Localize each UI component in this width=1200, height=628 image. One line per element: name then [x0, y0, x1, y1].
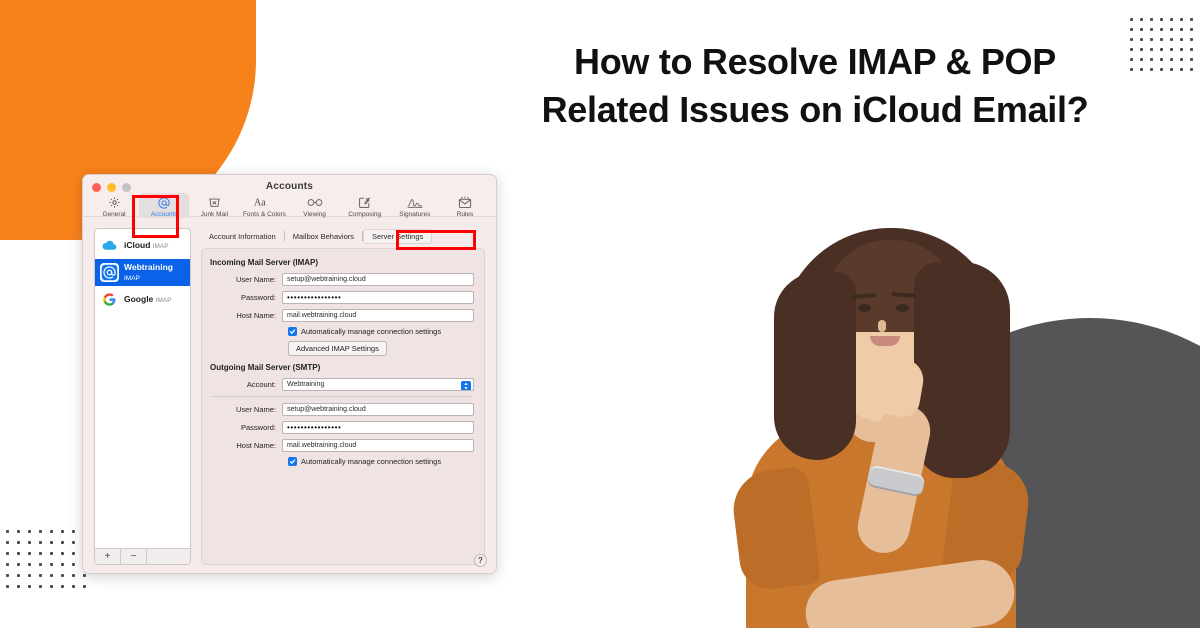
tab-server-settings[interactable]: Server Settings	[363, 229, 432, 244]
toolbar-label-composing: Composing	[348, 211, 381, 218]
incoming-auto-manage-checkbox[interactable]	[288, 327, 297, 336]
compose-pencil-icon	[358, 195, 371, 210]
page-title: How to Resolve IMAP & POP Related Issues…	[470, 38, 1160, 133]
sidebar-item-text: Webtraining IMAP	[124, 263, 185, 282]
window-titlebar: Accounts General	[83, 175, 496, 217]
eye-left	[858, 304, 871, 312]
incoming-username-input[interactable]: setup@webtraining.cloud	[282, 273, 474, 286]
detail-tabbar: Account Information Mailbox Behaviors Se…	[201, 228, 485, 244]
outgoing-hostname-label: Host Name:	[210, 441, 282, 450]
chevron-updown-icon[interactable]	[461, 381, 471, 391]
sidebar-item-webtraining[interactable]: Webtraining IMAP	[95, 259, 190, 286]
toolbar-label-rules: Rules	[457, 211, 474, 218]
toolbar-label-accounts: Accounts	[151, 211, 178, 218]
headline-line-1: How to Resolve IMAP & POP	[470, 38, 1160, 86]
account-name: iCloud	[124, 241, 150, 250]
banner-canvas: How to Resolve IMAP & POP Related Issues…	[0, 0, 1200, 628]
outgoing-username-input[interactable]: setup@webtraining.cloud	[282, 403, 474, 416]
font-aa-icon: Aa	[254, 195, 274, 210]
incoming-username-row: User Name: setup@webtraining.cloud	[210, 273, 474, 286]
outgoing-auto-manage-row[interactable]: Automatically manage connection settings	[288, 457, 474, 466]
trash-junk-icon	[208, 195, 221, 210]
incoming-password-label: Password:	[210, 293, 282, 302]
toolbar-label-signatures: Signatures	[399, 211, 430, 218]
account-detail-pane: Account Information Mailbox Behaviors Se…	[201, 228, 485, 565]
sidebar-footer: + −	[95, 548, 190, 564]
outgoing-auto-manage-label: Automatically manage connection settings	[301, 457, 441, 466]
svg-text:Aa: Aa	[254, 198, 266, 209]
hair-right	[914, 262, 1010, 478]
glasses-icon	[307, 195, 323, 210]
preferences-toolbar: General Accounts	[83, 193, 496, 220]
server-settings-panel: Incoming Mail Server (IMAP) User Name: s…	[201, 248, 485, 565]
sleeve-left	[729, 466, 821, 593]
gear-icon	[108, 195, 121, 210]
toolbar-item-junk-mail[interactable]: Junk Mail	[189, 193, 239, 220]
outgoing-password-row: Password: ••••••••••••••••	[210, 421, 474, 434]
outgoing-auto-manage-checkbox[interactable]	[288, 457, 297, 466]
sidebar-footer-filler	[147, 549, 190, 564]
tab-mailbox-behaviors[interactable]: Mailbox Behaviors	[285, 230, 362, 243]
incoming-hostname-row: Host Name: mail.webtraining.cloud	[210, 309, 474, 322]
hair-left	[774, 272, 856, 460]
outgoing-account-select[interactable]: Webtraining	[282, 378, 474, 391]
toolbar-item-fonts-colors[interactable]: Aa Fonts & Colors	[239, 193, 289, 220]
toolbar-item-accounts[interactable]: Accounts	[139, 193, 189, 220]
at-sign-app-icon	[100, 263, 119, 282]
outgoing-hostname-row: Host Name: mail.webtraining.cloud	[210, 439, 474, 452]
incoming-password-row: Password: ••••••••••••••••	[210, 291, 474, 304]
sidebar-item-text: Google IMAP	[124, 295, 171, 305]
outgoing-section-title: Outgoing Mail Server (SMTP)	[210, 363, 474, 372]
accounts-sidebar: iCloud IMAP Webt	[94, 228, 191, 565]
incoming-hostname-label: Host Name:	[210, 311, 282, 320]
headline-line-2: Related Issues on iCloud Email?	[470, 86, 1160, 134]
toolbar-item-general[interactable]: General	[89, 193, 139, 220]
toolbar-item-rules[interactable]: Rules	[440, 193, 490, 220]
incoming-auto-manage-label: Automatically manage connection settings	[301, 327, 441, 336]
account-name: Google	[124, 295, 153, 304]
account-type: IMAP	[156, 297, 172, 304]
person-photo	[700, 228, 1060, 628]
toolbar-item-composing[interactable]: Composing	[340, 193, 390, 220]
add-account-button[interactable]: +	[95, 549, 121, 564]
help-button[interactable]: ?	[474, 554, 487, 567]
toolbar-label-junk-mail: Junk Mail	[201, 211, 228, 218]
sidebar-item-text: iCloud IMAP	[124, 241, 169, 251]
incoming-section-title: Incoming Mail Server (IMAP)	[210, 258, 474, 267]
icloud-icon	[100, 236, 119, 255]
mail-preferences-window: Accounts General	[82, 174, 497, 574]
outgoing-hostname-input[interactable]: mail.webtraining.cloud	[282, 439, 474, 452]
window-title: Accounts	[83, 181, 496, 192]
nose	[878, 320, 886, 332]
account-type: IMAP	[153, 243, 169, 250]
toolbar-label-fonts-colors: Fonts & Colors	[243, 211, 286, 218]
google-g-icon	[100, 290, 119, 309]
at-sign-icon	[157, 195, 171, 210]
sidebar-item-icloud[interactable]: iCloud IMAP	[95, 232, 190, 259]
incoming-hostname-input[interactable]: mail.webtraining.cloud	[282, 309, 474, 322]
toolbar-label-viewing: Viewing	[303, 211, 326, 218]
signature-icon	[407, 195, 423, 210]
incoming-auto-manage-row[interactable]: Automatically manage connection settings	[288, 327, 474, 336]
tab-account-information[interactable]: Account Information	[201, 230, 284, 243]
preferences-body: iCloud IMAP Webt	[83, 218, 496, 573]
advanced-imap-settings-button[interactable]: Advanced IMAP Settings	[288, 341, 387, 356]
outgoing-divider	[212, 396, 472, 397]
accounts-list: iCloud IMAP Webt	[95, 229, 190, 548]
outgoing-account-value: Webtraining	[287, 381, 324, 388]
account-name: Webtraining	[124, 263, 173, 272]
toolbar-item-viewing[interactable]: Viewing	[290, 193, 340, 220]
outgoing-account-row: Account: Webtraining	[210, 378, 474, 391]
toolbar-item-signatures[interactable]: Signatures	[390, 193, 440, 220]
rules-envelope-icon	[458, 195, 472, 210]
account-type: IMAP	[124, 275, 140, 282]
eye-right	[896, 304, 909, 312]
sidebar-item-google[interactable]: Google IMAP	[95, 286, 190, 313]
outgoing-password-label: Password:	[210, 423, 282, 432]
dot-grid-bottom-left	[6, 530, 84, 600]
incoming-username-label: User Name:	[210, 275, 282, 284]
outgoing-username-label: User Name:	[210, 405, 282, 414]
outgoing-username-row: User Name: setup@webtraining.cloud	[210, 403, 474, 416]
outgoing-password-input[interactable]: ••••••••••••••••	[282, 421, 474, 434]
incoming-password-input[interactable]: ••••••••••••••••	[282, 291, 474, 304]
remove-account-button[interactable]: −	[121, 549, 147, 564]
outgoing-account-label: Account:	[210, 380, 282, 389]
toolbar-label-general: General	[103, 211, 126, 218]
